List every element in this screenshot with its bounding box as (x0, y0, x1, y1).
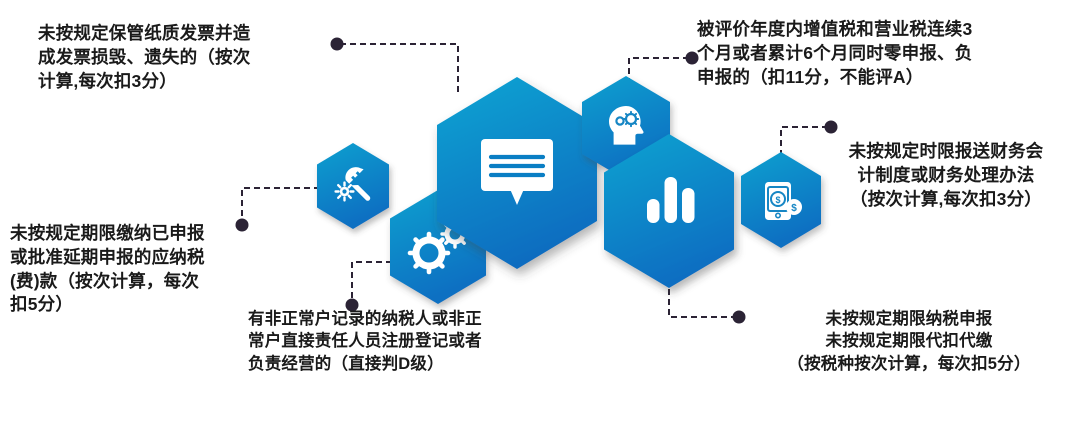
hexagon-bar-chart[interactable] (601, 134, 737, 288)
svg-text:$: $ (791, 203, 797, 214)
infographic-canvas: $ $ 未按规定保管纸质发票并造 成发票损毁、遗失的（按次 计算,每次扣3分） … (0, 0, 1080, 423)
callout-invoice-damage: 未按规定保管纸质发票并造 成发票损毁、遗失的（按次 计算,每次扣3分） (38, 22, 338, 93)
callout-abnormal-account: 有非正常户记录的纳税人或非正 常户直接责任人员注册登记或者 负责经营的（直接判D… (248, 308, 566, 375)
callout-financial-report: 未按规定时限报送财务会 计制度或财务处理办法 （按次计算,每次扣3分） (820, 140, 1072, 211)
hexagon-mobile-money[interactable]: $ $ (739, 152, 823, 248)
svg-text:$: $ (775, 195, 780, 205)
hexagon-speech-bubble[interactable] (434, 77, 600, 269)
connector-dot-financial-report (825, 121, 838, 134)
callout-zero-declaration: 被评价年度内增值税和营业税连续3 个月或者累计6个月同时零申报、负 申报的（扣1… (697, 18, 1069, 89)
callout-late-filing: 未按规定期限纳税申报 未按规定期限代扣代缴 （按税种按次计算，每次扣5分） (742, 308, 1076, 375)
callout-overdue-payment: 未按规定期限缴纳已申报 或批准延期申报的应纳税 (费)款（按次计算，每次 扣5分… (10, 222, 272, 317)
hexagon-wrench-gear[interactable] (315, 143, 391, 229)
connector-overdue-payment (242, 188, 320, 222)
